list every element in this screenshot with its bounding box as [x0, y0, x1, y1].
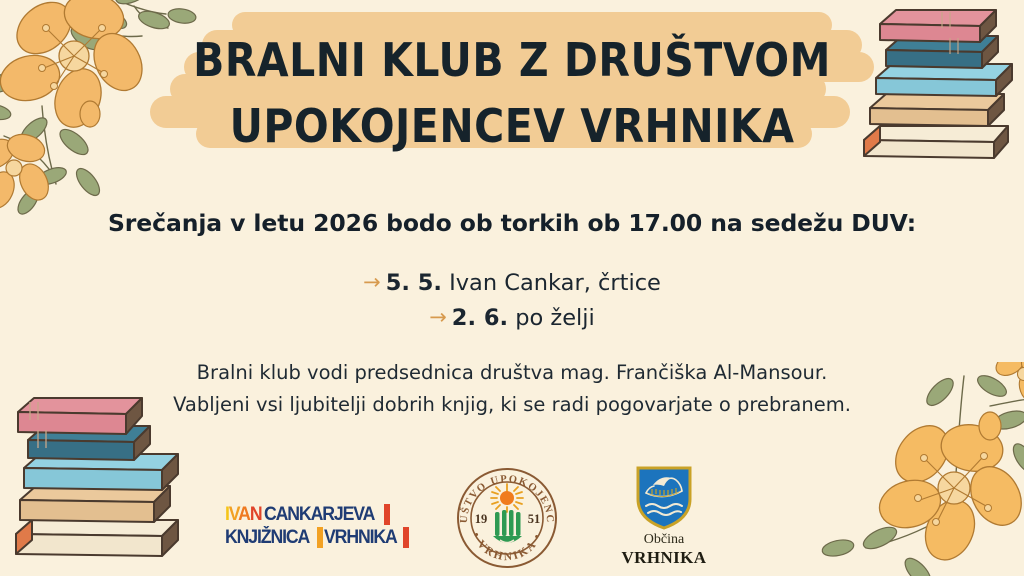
library-logo-bar [317, 527, 323, 548]
duv-year-right: 51 [528, 512, 541, 526]
meeting-info-subtitle: Srečanja v letu 2026 bodo ob torkih ob 1… [0, 209, 1024, 237]
schedule-item: →5. 5. Ivan Cankar, črtice [0, 266, 1024, 301]
poster-title-block: BRALNI KLUB Z DRUŠTVOM UPOKOJENCEV VRHNI… [0, 8, 1024, 168]
schedule-item-date: 5. 5. [386, 270, 442, 296]
title-line-1: BRALNI KLUB Z DRUŠTVOM [0, 28, 1024, 95]
coat-of-arms-icon [635, 465, 693, 531]
arrow-right-icon: → [363, 266, 381, 299]
schedule-list: →5. 5. Ivan Cankar, črtice →2. 6. po žel… [0, 266, 1024, 336]
logo-row: IVAN CANKARJEVA KNJIŽNICA VRHNIKA DRUŠTV… [0, 460, 1024, 570]
library-logo-line-1: IVAN CANKARJEVA [225, 504, 421, 525]
schedule-item: →2. 6. po želji [0, 301, 1024, 336]
closing-line-1: Bralni klub vodi predsednica društva mag… [0, 357, 1024, 389]
closing-line-2: Vabljeni vsi ljubitelji dobrih knjig, ki… [0, 389, 1024, 421]
duv-emblem-icon [493, 510, 522, 543]
obcina-label: Občina [612, 532, 716, 548]
library-logo-cankarjeva: CANKARJEVA [264, 504, 374, 525]
duv-year-left: 19 [475, 512, 488, 526]
obcina-vrhnika-logo: Občina VRHNIKA [612, 465, 716, 568]
schedule-item-description: po želji [515, 305, 595, 331]
library-logo-vrhnika: VRHNIKA [324, 527, 397, 548]
sun-icon [491, 484, 523, 512]
closing-paragraph: Bralni klub vodi predsednica društva mag… [0, 357, 1024, 420]
obcina-name: VRHNIKA [612, 548, 716, 568]
arrow-right-icon: → [429, 301, 447, 334]
duv-seal-logo: DRUŠTVO UPOKOJENCEV • VRHNIKA • 19 51 [455, 466, 559, 570]
poster-canvas: BRALNI KLUB Z DRUŠTVOM UPOKOJENCEV VRHNI… [0, 0, 1024, 576]
library-logo-bar [403, 527, 409, 548]
schedule-item-date: 2. 6. [452, 305, 508, 331]
library-logo-ivan: IVAN [225, 504, 261, 525]
library-logo: IVAN CANKARJEVA KNJIŽNICA VRHNIKA [225, 504, 421, 548]
library-logo-knjiznica: KNJIŽNICA [225, 527, 309, 548]
page-title: BRALNI KLUB Z DRUŠTVOM UPOKOJENCEV VRHNI… [0, 28, 1024, 161]
schedule-item-description: Ivan Cankar, črtice [449, 270, 661, 296]
library-logo-line-2: KNJIŽNICA VRHNIKA [225, 527, 421, 548]
title-line-2: UPOKOJENCEV VRHNIKA [0, 95, 1024, 162]
library-logo-bar [384, 504, 390, 525]
